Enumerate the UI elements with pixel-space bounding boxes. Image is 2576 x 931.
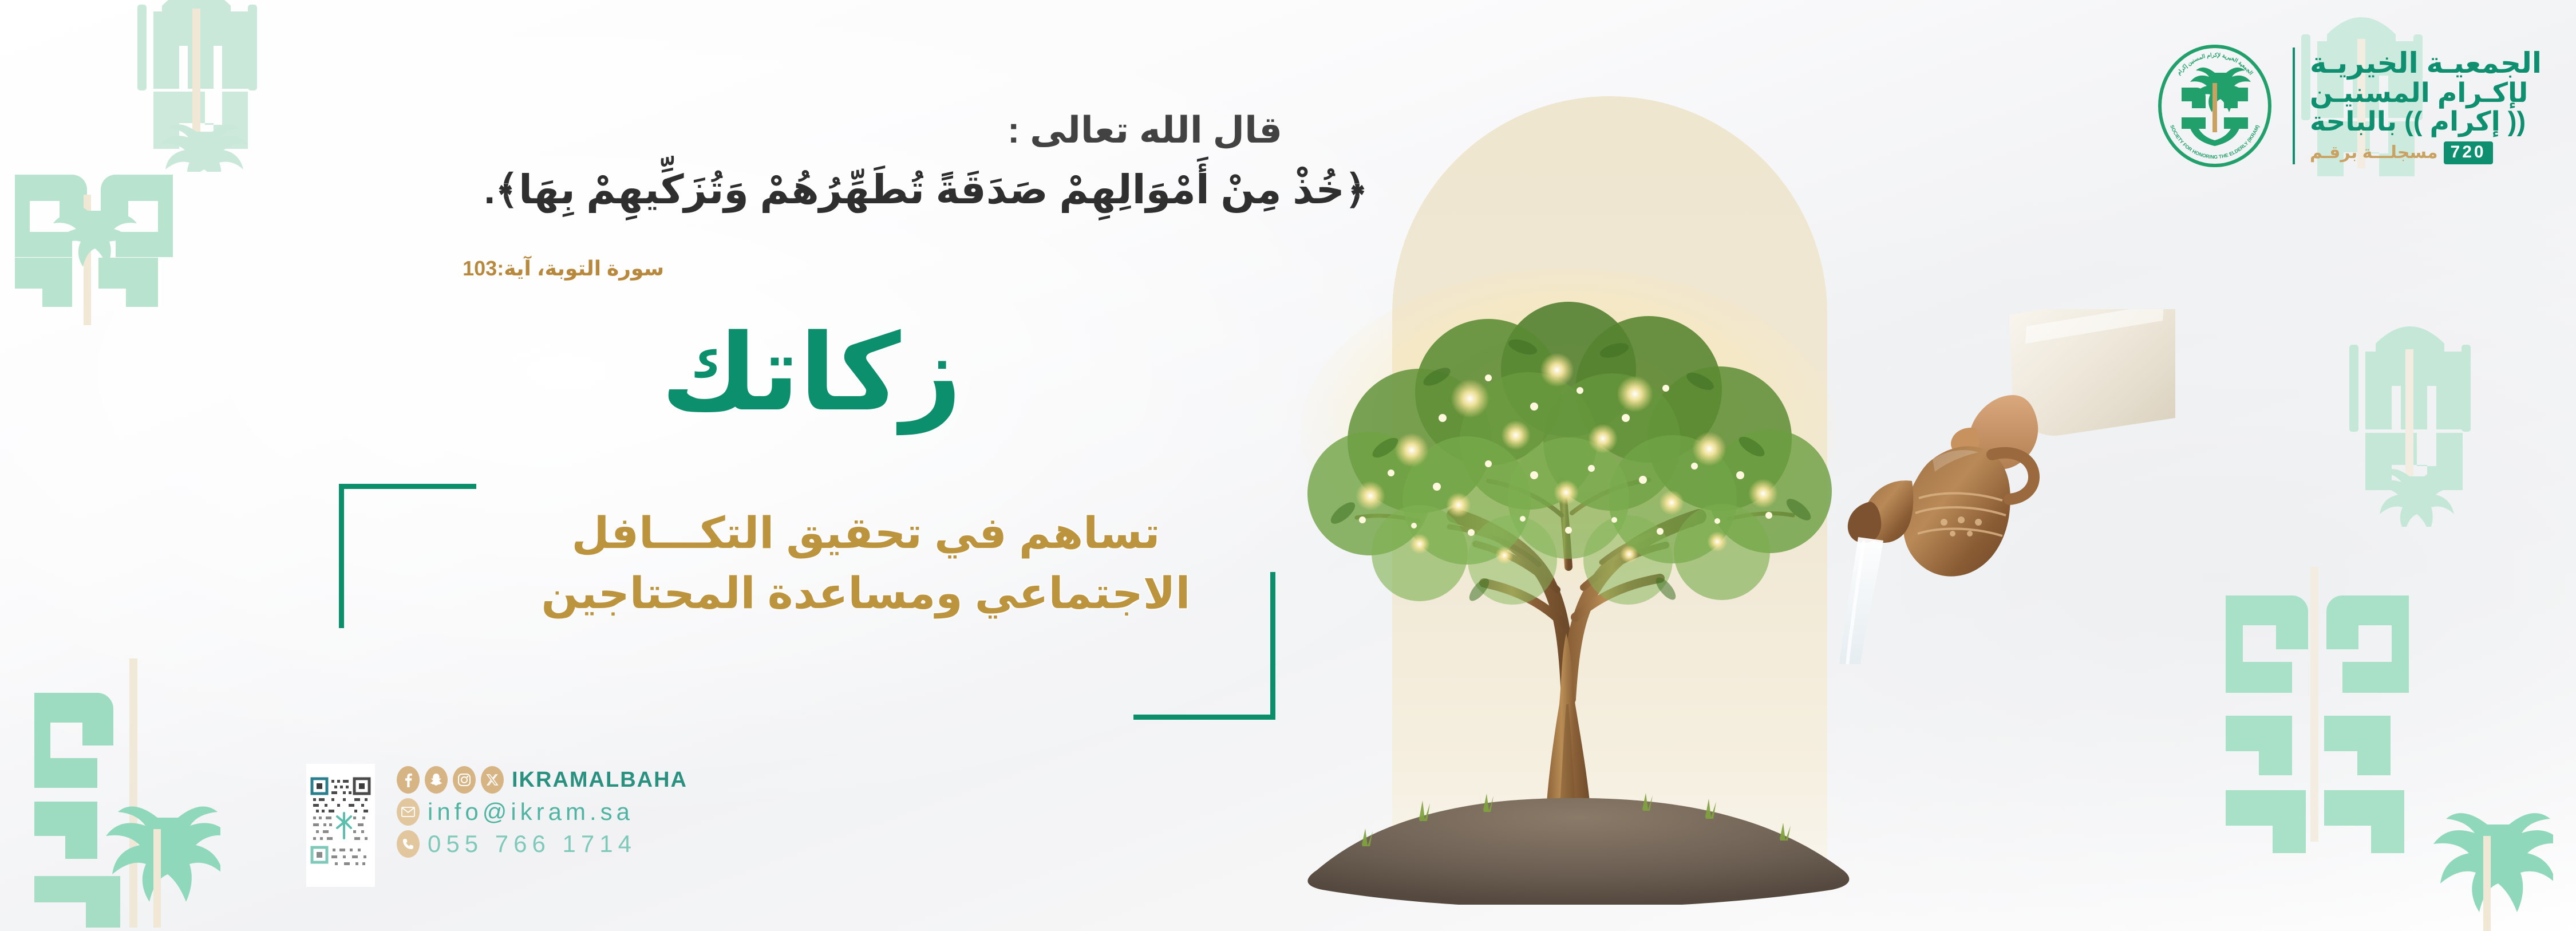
tagline: تساهم في تحقيق التكـــافل الاجتماعي ومسا… xyxy=(452,504,1279,624)
bracket-bottom-right-horizontal xyxy=(1133,715,1275,720)
tagline-line-2: الاجتماعي ومساعدة المحتاجين xyxy=(452,564,1279,624)
x-twitter-icon[interactable] xyxy=(481,766,504,794)
phone-icon[interactable] xyxy=(397,830,420,858)
qr-code[interactable] xyxy=(306,764,375,887)
organization-seal-icon: الجمعية الخيرية لإكرام المسنين إكرام SOC… xyxy=(2152,43,2278,169)
headline-zakat: زكاتك xyxy=(661,321,962,427)
social-handle-row: IKRAMALBAHA xyxy=(397,766,688,794)
watermark-logo-motif-top-left xyxy=(102,0,291,172)
bracket-top-left-vertical xyxy=(339,484,344,628)
contact-block: IKRAMALBAHA info@ikram.sa 055 766 1 xyxy=(306,764,688,887)
watermark-logo-motif-left xyxy=(5,143,176,332)
watermark-logo-motif-right xyxy=(2318,321,2502,527)
organization-name: الجمعيـة الخيريـة لإكـرام المسنيـن (( إك… xyxy=(2293,48,2542,165)
watermark-logo-motif-bottom-left xyxy=(23,658,195,931)
social-handle[interactable]: IKRAMALBAHA xyxy=(512,768,688,792)
watermark-palm-bottom-right xyxy=(2421,790,2553,931)
email-address[interactable]: info@ikram.sa xyxy=(428,798,634,826)
tagline-line-1: تساهم في تحقيق التكـــافل xyxy=(452,504,1279,564)
org-name-line-3: (( إكرام )) بالباحة xyxy=(2310,107,2526,136)
verse-source: سورة التوبة، آية:103 xyxy=(463,257,664,281)
email-row: info@ikram.sa xyxy=(397,798,688,826)
watermark-logo-motif-bottom-right xyxy=(2215,561,2410,859)
instagram-icon[interactable] xyxy=(453,766,476,794)
phone-number[interactable]: 055 766 1714 xyxy=(428,830,637,858)
registration-label: مسجلـــة برقـم xyxy=(2310,144,2438,162)
registration-row: 720 مسجلـــة برقـم xyxy=(2310,141,2493,164)
phone-row: 055 766 1714 xyxy=(397,830,688,858)
snapchat-icon[interactable] xyxy=(425,766,448,794)
org-name-line-1: الجمعيـة الخيريـة xyxy=(2310,48,2542,78)
verse-text: ﴿خُذْ مِنْ أَمْوَالِهِمْ صَدَقَةً تُطَهِ… xyxy=(484,166,1368,213)
contact-rows: IKRAMALBAHA info@ikram.sa 055 766 1 xyxy=(397,764,688,858)
watermark-palm-bottom-left xyxy=(94,784,220,928)
bracket-top-left-horizontal xyxy=(339,484,476,489)
verse-intro: قال الله تعالى : xyxy=(1008,109,1282,152)
organization-logo-block: الجمعيـة الخيريـة لإكـرام المسنيـن (( إك… xyxy=(2152,43,2542,169)
zakat-banner: قال الله تعالى : ﴿خُذْ مِنْ أَمْوَالِهِم… xyxy=(0,0,2576,931)
org-name-line-2: لإكـرام المسنيـن xyxy=(2310,78,2528,108)
registration-number-badge: 720 xyxy=(2444,141,2493,164)
hand-pouring-jug-illustration xyxy=(1820,309,2175,664)
social-icons xyxy=(397,766,504,794)
facebook-icon[interactable] xyxy=(397,766,420,794)
envelope-icon[interactable] xyxy=(397,798,420,826)
